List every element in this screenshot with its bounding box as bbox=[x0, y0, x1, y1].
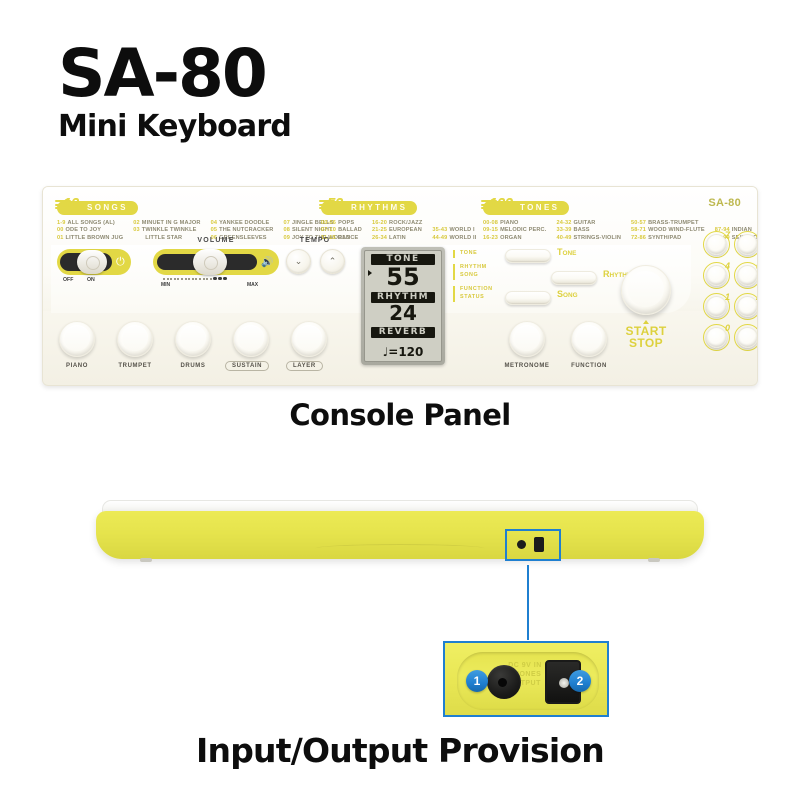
callout-phones-output-jack[interactable] bbox=[487, 665, 521, 699]
list-item bbox=[715, 220, 758, 227]
list-item: 07-10BALLAD bbox=[321, 227, 362, 234]
list-item: 09-15MELODIC PERC. bbox=[483, 227, 546, 234]
songs-section: 10 SONGS 1-9ALL SONGS (AL) 00ODE TO JOY … bbox=[57, 197, 360, 242]
tones-col-1: 24-32GUITAR 33-39BASS 40-49STRINGS-VIOLI… bbox=[556, 220, 621, 242]
function-button[interactable] bbox=[571, 321, 607, 357]
list-item: 04YANKEE DOODLE bbox=[211, 220, 274, 227]
tones-col-2: 50-57BRASS-TRUMPET 58-71WOOD WIND-FLUTE … bbox=[631, 220, 705, 242]
tempo-up-button[interactable]: ⌃ bbox=[320, 249, 345, 274]
layer-button[interactable] bbox=[291, 321, 327, 357]
songs-col-0: 1-9ALL SONGS (AL) 00ODE TO JOY 01LITTLE … bbox=[57, 220, 123, 242]
rhythms-col-2: 35-43WORLD I 44-49WORLD II bbox=[432, 220, 476, 242]
power-switch-knob[interactable] bbox=[77, 250, 107, 274]
tones-col-0: 00-08PIANO 09-15MELODIC PERC. 16-23ORGAN bbox=[483, 220, 546, 242]
list-item: 16-20ROCK/JAZZ bbox=[372, 220, 422, 227]
rear-port-group bbox=[510, 531, 558, 559]
lcd-side-legend: TONE RHYTHM SONG FUNCTION STATUS bbox=[453, 249, 493, 363]
rhythms-count: 50 bbox=[327, 197, 343, 211]
numpad-key-1[interactable]: 1 bbox=[703, 293, 732, 322]
chevron-up-icon: ⌃ bbox=[329, 256, 337, 267]
numpad-key-minus[interactable]: – bbox=[734, 324, 758, 353]
lcd-tone-value: 55 bbox=[365, 265, 441, 289]
list-item: 16-23ORGAN bbox=[483, 235, 546, 242]
rhythm-button[interactable] bbox=[551, 271, 597, 285]
numpad-key-4[interactable]: 4 bbox=[703, 262, 732, 291]
rhythms-badge: 50 RHYTHMS bbox=[321, 201, 417, 215]
metronome-button[interactable] bbox=[509, 321, 545, 357]
list-item: 02MINUET IN G MAJOR bbox=[133, 220, 200, 227]
volume-min-label: MIN bbox=[161, 282, 170, 288]
list-item: 21-25EUROPEAN bbox=[372, 227, 422, 234]
port-highlight-box bbox=[505, 529, 561, 561]
power-switch-track[interactable] bbox=[60, 253, 112, 271]
power-icon: ⏻ bbox=[116, 257, 125, 268]
trumpet-button[interactable] bbox=[117, 321, 153, 357]
lcd-screen: TONE 55 RHYTHM 24 REVERB ♩=120 bbox=[364, 250, 442, 362]
tones-count: 100 bbox=[489, 197, 513, 211]
list-item: 24-32GUITAR bbox=[556, 220, 621, 227]
drums-button[interactable] bbox=[175, 321, 211, 357]
start-stop-button[interactable] bbox=[621, 265, 671, 315]
list-item: 05THE NUTCRACKER bbox=[211, 227, 274, 234]
drums-button-label: DRUMS bbox=[169, 363, 217, 369]
list-item: 00-08PIANO bbox=[483, 220, 546, 227]
power-on-label: ON bbox=[87, 277, 95, 283]
power-off-label: OFF bbox=[63, 277, 73, 283]
console-panel-caption: Console Panel bbox=[0, 398, 800, 432]
list-item: 03TWINKLE TWINKLE bbox=[133, 227, 200, 234]
list-item: 00ODE TO JOY bbox=[57, 227, 123, 234]
list-item: 33-39BASS bbox=[556, 227, 621, 234]
tones-heading: TONES bbox=[520, 203, 559, 212]
lcd-cursor-icon bbox=[368, 270, 372, 276]
list-item: 35-43WORLD I bbox=[432, 227, 476, 234]
tones-badge: 100 TONES bbox=[483, 201, 569, 215]
rhythms-section: 50 RHYTHMS 00-06POPS 07-10BALLAD 11-15DA… bbox=[321, 197, 486, 242]
numpad-key-8[interactable]: 8 bbox=[734, 231, 758, 260]
list-item: 26-34LATIN bbox=[372, 235, 422, 242]
list-item: 44-49WORLD II bbox=[432, 235, 476, 242]
list-item: 01LITTLE BROWN JUG bbox=[57, 235, 123, 242]
lcd-rhythm-value: 24 bbox=[365, 303, 441, 324]
lcd-legend-status: STATUS bbox=[460, 293, 493, 301]
list-item: 40-49STRINGS-VIOLIN bbox=[556, 235, 621, 242]
numpad-key-5[interactable]: 5 bbox=[734, 262, 758, 291]
lcd-legend-group-rhythm-song: RHYTHM SONG bbox=[453, 263, 493, 279]
volume-slider-knob[interactable] bbox=[193, 249, 227, 275]
list-item: 1-9ALL SONGS (AL) bbox=[57, 220, 123, 227]
lcd-legend-function: FUNCTION bbox=[460, 285, 493, 293]
console-panel: SA-80 10 SONGS 1-9ALL SONGS (AL) 00ODE T… bbox=[42, 186, 758, 386]
piano-button[interactable] bbox=[59, 321, 95, 357]
callout-leader-line bbox=[527, 565, 529, 640]
rhythms-heading: RHYTHMS bbox=[351, 203, 407, 212]
numpad-key-2[interactable]: 2 bbox=[734, 293, 758, 322]
tempo-down-button[interactable]: ⌄ bbox=[286, 249, 311, 274]
numpad-key-0[interactable]: 0 bbox=[703, 324, 732, 353]
trumpet-button-label: TRUMPET bbox=[111, 363, 159, 369]
sustain-button-label: SUSTAIN bbox=[225, 361, 269, 371]
list-item: 58-71WOOD WIND-FLUTE bbox=[631, 227, 705, 234]
keyboard-rear-profile bbox=[96, 500, 704, 566]
io-caption: Input/Output Provision bbox=[0, 731, 800, 770]
rhythms-col-1: 16-20ROCK/JAZZ 21-25EUROPEAN 26-34LATIN bbox=[372, 220, 422, 242]
lcd-tempo-value: ♩=120 bbox=[365, 345, 441, 359]
tone-button-label: TONE bbox=[557, 247, 576, 257]
songs-heading: SONGS bbox=[87, 203, 128, 212]
list-item bbox=[432, 220, 476, 227]
list-item: 50-57BRASS-TRUMPET bbox=[631, 220, 705, 227]
phones-output-jack[interactable] bbox=[517, 540, 526, 549]
sustain-button[interactable] bbox=[233, 321, 269, 357]
song-button-label: SONG bbox=[557, 289, 578, 299]
lcd-display: TONE 55 RHYTHM 24 REVERB ♩=120 bbox=[361, 247, 445, 365]
numeric-keypad: 7 8 9 4 5 6 1 2 3 0 – + bbox=[703, 231, 758, 361]
io-callout: DC 9V INPHONESOUTPUT 1 2 bbox=[443, 641, 609, 717]
volume-max-label: MAX bbox=[247, 282, 258, 288]
marker-bubble-2: 2 bbox=[569, 670, 591, 692]
metronome-button-label: METRONOME bbox=[497, 363, 557, 369]
tempo-title: TEMPO bbox=[283, 237, 347, 244]
power-switch[interactable]: ⏻ bbox=[57, 249, 131, 275]
dc-9v-in-jack[interactable] bbox=[534, 537, 544, 552]
function-button-label: FUNCTION bbox=[561, 363, 617, 369]
lcd-legend-rhythm: RHYTHM bbox=[460, 263, 493, 271]
volume-slider-track[interactable] bbox=[157, 254, 257, 270]
lcd-reverb-label: REVERB bbox=[371, 327, 435, 338]
lcd-legend-group-function-status: FUNCTION STATUS bbox=[453, 285, 493, 301]
start-stop-label: START STOP bbox=[609, 320, 683, 349]
product-title-block: SA-80 Mini Keyboard bbox=[58, 42, 291, 144]
keyboard-foot-left bbox=[140, 558, 152, 562]
lcd-legend-tone: TONE bbox=[460, 249, 493, 257]
songs-badge: 10 SONGS bbox=[57, 201, 138, 215]
volume-scale-dots bbox=[163, 277, 269, 280]
product-model-title: SA-80 bbox=[58, 42, 291, 105]
list-item: 00-06POPS bbox=[321, 220, 362, 227]
volume-slider[interactable]: 🔊 bbox=[153, 249, 279, 275]
chevron-down-icon: ⌄ bbox=[295, 256, 303, 267]
song-button[interactable] bbox=[505, 291, 551, 305]
tone-button[interactable] bbox=[505, 249, 551, 263]
songs-count: 10 bbox=[63, 197, 79, 211]
lcd-legend-group-tone: TONE bbox=[453, 249, 493, 257]
list-item: 72-86SYNTH/PAD bbox=[631, 235, 705, 242]
numpad-key-7[interactable]: 7 bbox=[703, 231, 732, 260]
layer-button-label: LAYER bbox=[286, 361, 323, 371]
keyboard-body bbox=[96, 511, 704, 559]
piano-button-label: PIANO bbox=[53, 363, 101, 369]
stop-label: STOP bbox=[609, 337, 683, 349]
speaker-icon: 🔊 bbox=[261, 257, 273, 268]
keyboard-foot-right bbox=[648, 558, 660, 562]
volume-title: VOLUME bbox=[153, 237, 279, 244]
product-subtitle: Mini Keyboard bbox=[58, 109, 291, 144]
lcd-legend-song: SONG bbox=[460, 271, 493, 279]
marker-bubble-1: 1 bbox=[466, 670, 488, 692]
page-root: SA-80 Mini Keyboard SA-80 10 SONGS 1-9AL… bbox=[0, 0, 800, 800]
